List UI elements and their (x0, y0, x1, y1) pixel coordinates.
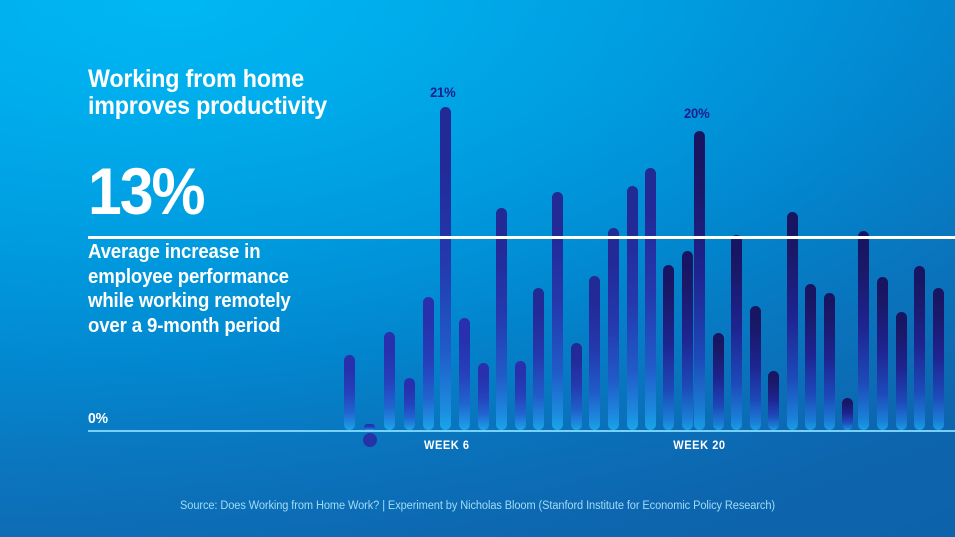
bar-week-20 (694, 131, 705, 430)
bar-week-16 (627, 186, 638, 430)
bar-week-14 (589, 276, 600, 430)
data-label-21: 21% (430, 84, 456, 100)
week-tick-20: WEEK 20 (673, 438, 725, 452)
bar-week-33 (933, 288, 944, 430)
bar-week-15 (608, 228, 619, 430)
bar-week-5 (423, 297, 434, 430)
bar-week-12 (552, 192, 563, 430)
bar-week-25 (787, 212, 798, 430)
bar-week-19 (682, 251, 693, 430)
bar-week-1 (344, 355, 355, 430)
axis-label-zero-percent: 0% (88, 410, 108, 427)
page-title: Working from home improves productivity (88, 66, 367, 120)
source-citation: Source: Does Working from Home Work? | E… (19, 500, 936, 512)
big-statistic: 13% (88, 158, 364, 224)
infographic-poster: 21%20%WEEK 6WEEK 20 Working from home im… (0, 0, 955, 537)
bar-week-22 (731, 235, 742, 430)
week-tick-6: WEEK 6 (424, 438, 470, 452)
bar-week-9 (496, 208, 507, 430)
bar-week-23 (750, 306, 761, 430)
bar-week-8 (478, 363, 489, 430)
bar-week-26 (805, 284, 816, 430)
bar-week-13 (571, 343, 582, 430)
bar-week-29 (858, 231, 869, 430)
bar-week-32 (914, 266, 925, 430)
bar-week-10 (515, 361, 526, 430)
bar-week-7 (459, 318, 470, 430)
series-start-dot (363, 433, 377, 447)
bar-week-11 (533, 288, 544, 430)
chart-baseline (88, 430, 955, 432)
bar-week-27 (824, 293, 835, 430)
bar-week-21 (713, 333, 724, 430)
bar-week-30 (877, 277, 888, 430)
bar-week-4 (404, 378, 415, 430)
bar-week-24 (768, 371, 779, 430)
statistic-description: Average increase in employee performance… (88, 240, 367, 338)
data-label-20: 20% (684, 105, 710, 121)
bar-week-31 (896, 312, 907, 430)
bar-week-18 (663, 265, 674, 430)
bar-week-17 (645, 168, 656, 430)
bar-week-3 (384, 332, 395, 430)
left-text-panel: Working from home improves productivity … (88, 66, 388, 338)
bar-week-28 (842, 398, 853, 430)
bar-week-6 (440, 107, 451, 430)
